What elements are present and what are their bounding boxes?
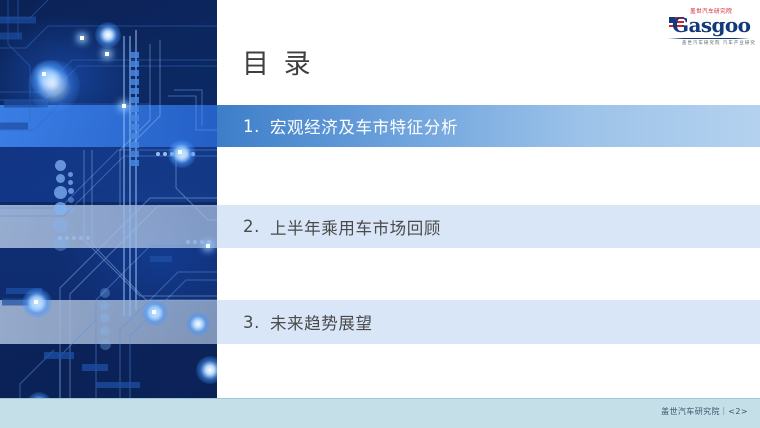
decorative-sidebar [0,0,217,428]
toc-item-1-label: 宏观经济及车市特征分析 [270,114,458,138]
toc-item-1[interactable]: 1. 宏观经济及车市特征分析 [217,105,760,147]
glow-dot-icon [95,22,121,48]
glow-square-icon [80,36,84,40]
logo-wordmark: Gasgoo [672,13,750,37]
toc-item-1-number: 1. [243,117,260,136]
page-title: 目 录 [242,42,314,81]
toc-item-3-label: 未来趋势展望 [270,310,373,334]
glow-square-icon [122,104,126,108]
logo-tagline: 盖世汽车研究院 汽车产业研究 [682,40,756,46]
toc-item-3-number: 3. [243,313,260,332]
glow-dot-icon [168,140,196,168]
glow-dot-icon [196,356,217,384]
glow-square-icon [206,244,210,248]
slide-canvas: 目 录 1. 宏观经济及车市特征分析 2. 上半年乘用车市场回顾 3. 未来趋势… [0,0,760,428]
toc-item-3[interactable]: 3. 未来趋势展望 [217,300,760,344]
toc-item-2-number: 2. [243,217,260,236]
glow-dot-icon [186,312,210,336]
gasgoo-logo: 盖世汽车研究院 Gasgoo 盖世汽车研究院 汽车产业研究 [668,4,750,50]
glow-square-icon [42,72,46,76]
toc-item-2[interactable]: 2. 上半年乘用车市场回顾 [217,205,760,248]
logo-divider [668,38,750,39]
bead-column-small-icon [68,172,75,213]
circuit-trace-icon [0,0,217,428]
chip-ladder-icon [130,52,139,166]
slide-footer: 盖世汽车研究院｜<2> [0,398,760,428]
glow-halo-icon [28,60,80,112]
micro-dot-row-3-icon [58,236,90,240]
bead-column-lower-icon [100,288,111,350]
glow-square-icon [34,300,38,304]
glow-square-icon [152,310,156,314]
glow-square-icon [178,150,182,154]
slide-content: 目 录 1. 宏观经济及车市特征分析 2. 上半年乘用车市场回顾 3. 未来趋势… [217,0,760,398]
footer-label: 盖世汽车研究院｜<2> [661,406,748,417]
toc-item-2-label: 上半年乘用车市场回顾 [270,215,441,239]
glow-square-icon [105,52,109,56]
